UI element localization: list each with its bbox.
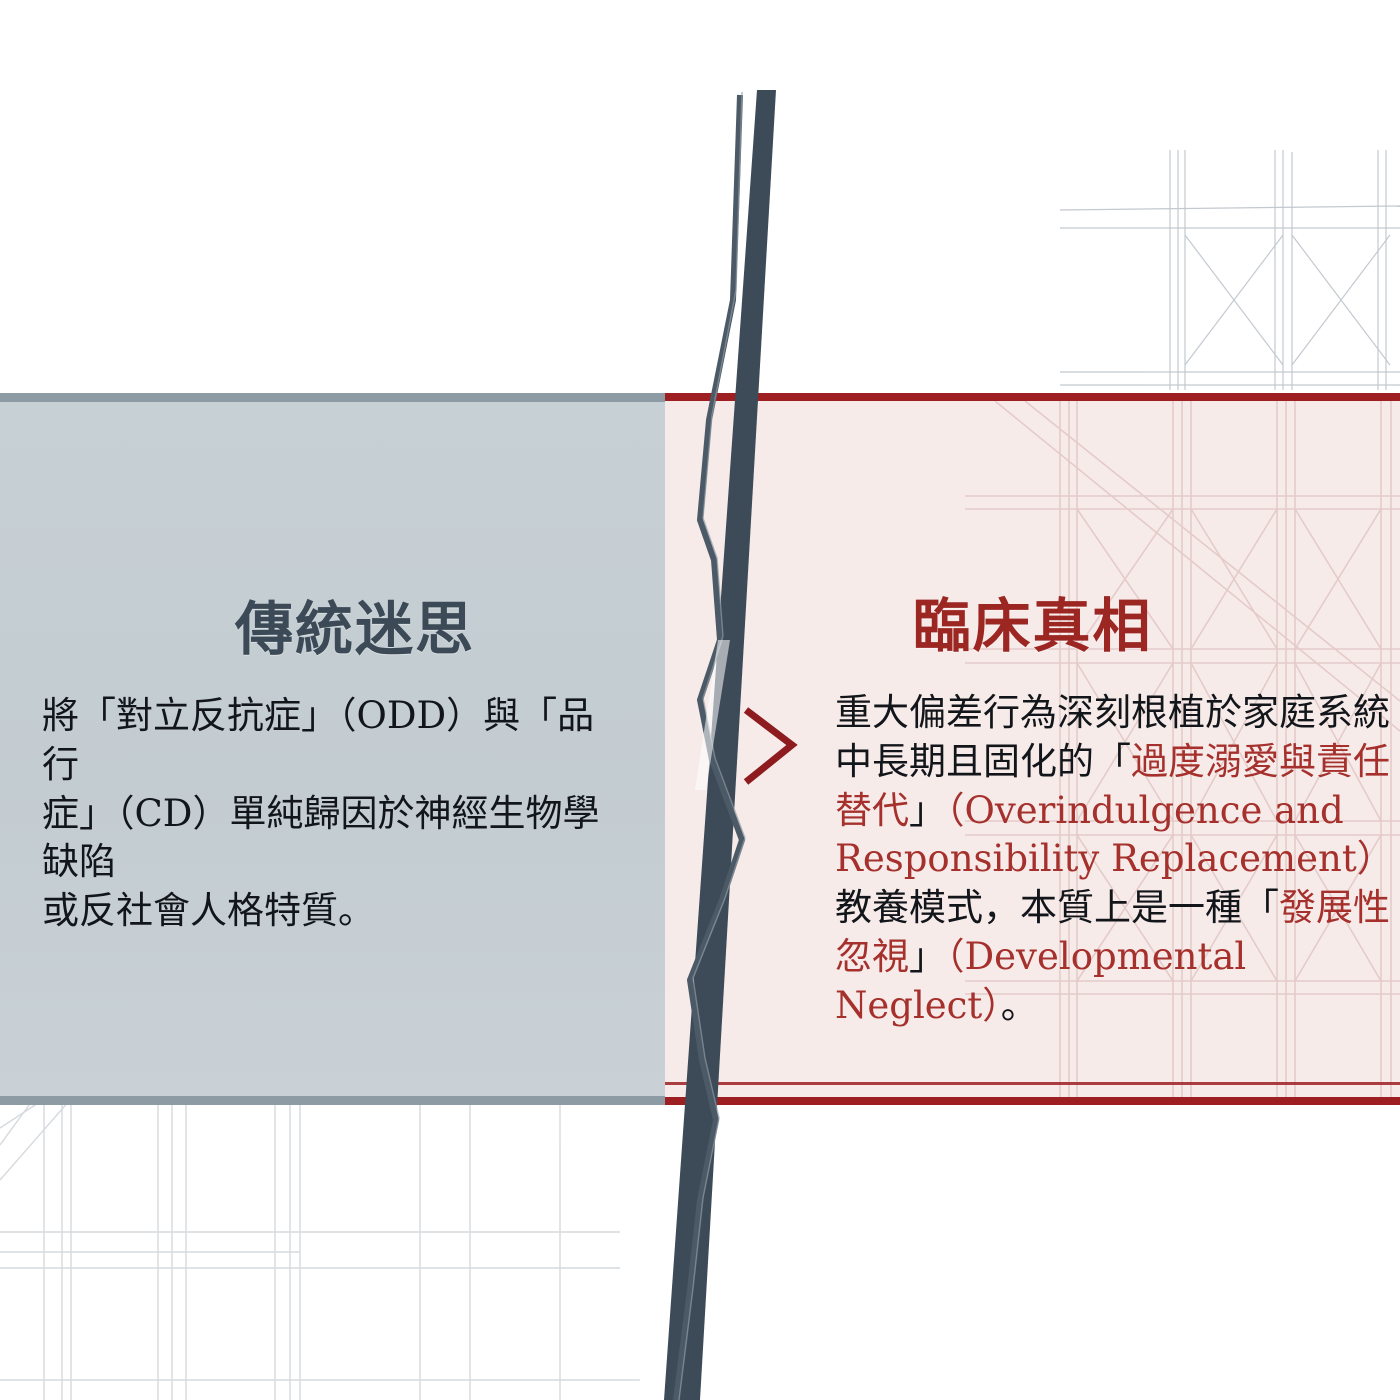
truth-panel-title: 臨床真相 (665, 579, 1400, 663)
slide-canvas: 傳統迷思 將「對立反抗症」（ODD）與「品行 症」（CD）單純歸因於神經生物學缺… (0, 0, 1400, 1400)
truth-panel-body: 重大偏差行為深刻根植於家庭系統中長期且固化的「過度溺愛與責任替代」（Overin… (835, 689, 1400, 1031)
myth-body-line: 症」（CD）單純歸因於神經生物學缺陷 (42, 790, 602, 888)
truth-panel-inner-rule (665, 1082, 1400, 1085)
myth-panel-title: 傳統迷思 (0, 582, 710, 666)
truth-segment: 教養模式，本質上是一種「 (835, 886, 1279, 929)
truth-segment: 」 (909, 789, 946, 832)
truth-panel: 臨床真相 重大偏差行為深刻根植於家庭系統中長期且固化的「過度溺愛與責任替代」（O… (665, 393, 1400, 1105)
truth-segment: 」 (909, 935, 946, 978)
myth-body-line: 或反社會人格特質。 (42, 887, 602, 936)
truth-segment: 。 (1001, 984, 1038, 1027)
myth-panel: 傳統迷思 將「對立反抗症」（ODD）與「品行 症」（CD）單純歸因於神經生物學缺… (0, 393, 710, 1105)
myth-body-line: 將「對立反抗症」（ODD）與「品行 (42, 692, 602, 790)
myth-panel-body: 將「對立反抗症」（ODD）與「品行 症」（CD）單純歸因於神經生物學缺陷 或反社… (42, 692, 602, 936)
